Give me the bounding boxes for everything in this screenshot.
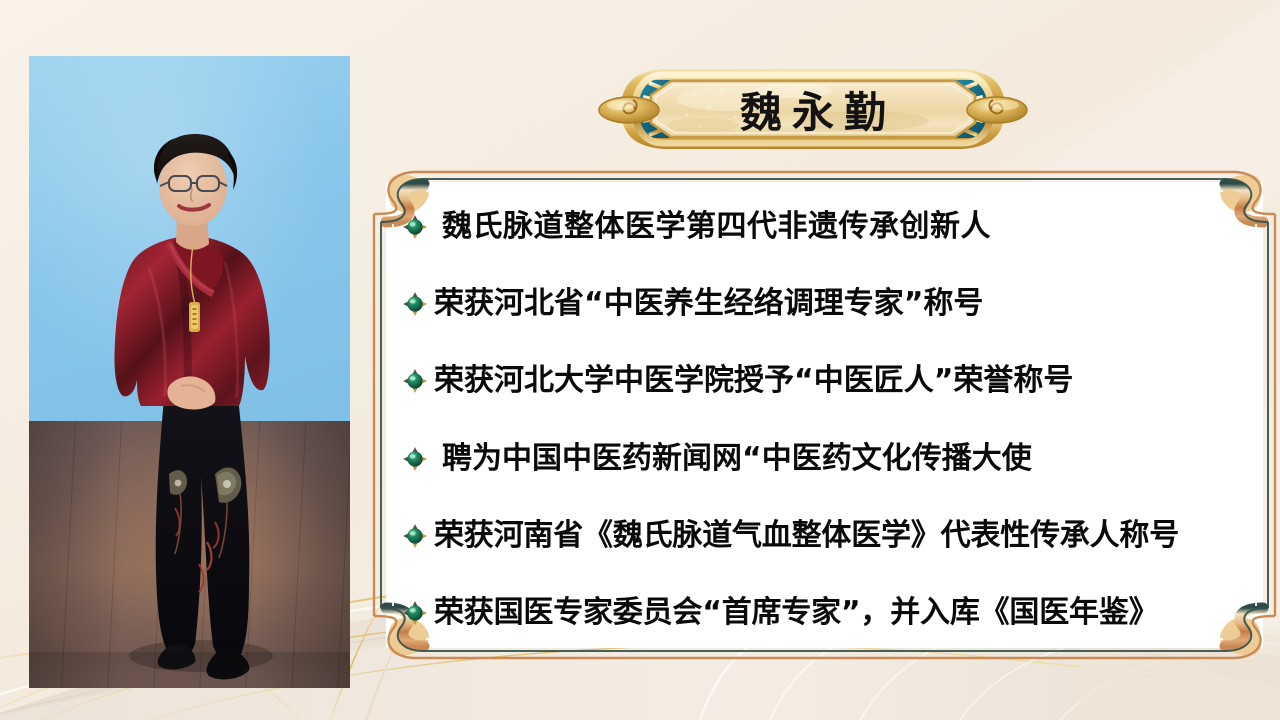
green-gem-bullet-icon — [402, 291, 428, 317]
list-item-label: 荣获国医专家委员会“首席专家”，并入库《国医年鉴》 — [434, 598, 1158, 628]
list-item-label: 荣获河南省《魏氏脉道气血整体医学》代表性传承人称号 — [434, 521, 1179, 551]
list-item: 荣获国医专家委员会“首席专家”，并入库《国医年鉴》 — [402, 586, 1247, 640]
list-item: 荣获河南省《魏氏脉道气血整体医学》代表性传承人称号 — [402, 509, 1247, 563]
list-item: 荣获河北省“中医养生经络调理专家”称号 — [402, 277, 1247, 331]
title-banner: 魏永勤 — [563, 55, 1063, 163]
green-gem-bullet-icon — [402, 368, 428, 394]
list-item: 荣获河北大学中医学院授予“中医匠人”荣誉称号 — [402, 354, 1247, 408]
list-item-label: 聘为中国中医药新闻网“中医药文化传播大使 — [434, 444, 1032, 474]
list-item-label: 荣获河北省“中医养生经络调理专家”称号 — [434, 289, 983, 319]
green-gem-bullet-icon — [402, 446, 428, 472]
green-gem-bullet-icon — [402, 600, 428, 626]
credentials-list: 魏氏脉道整体医学第四代非遗传承创新人 荣获河北省“中医养生经络调理专家”称号 — [402, 200, 1247, 640]
green-gem-bullet-icon — [402, 523, 428, 549]
list-item: 聘为中国中医药新闻网“中医药文化传播大使 — [402, 432, 1247, 486]
photo-figure — [29, 56, 350, 688]
page-title: 魏永勤 — [563, 55, 1063, 163]
list-item-label: 魏氏脉道整体医学第四代非遗传承创新人 — [434, 212, 991, 242]
green-gem-bullet-icon — [402, 214, 428, 240]
slide-canvas: 魏永勤 — [0, 0, 1280, 720]
credentials-card: 魏氏脉道整体医学第四代非遗传承创新人 荣获河北省“中医养生经络调理专家”称号 — [372, 170, 1277, 660]
list-item-label: 荣获河北大学中医学院授予“中医匠人”荣誉称号 — [434, 366, 1073, 396]
portrait-photo — [29, 56, 350, 688]
list-item: 魏氏脉道整体医学第四代非遗传承创新人 — [402, 200, 1247, 254]
